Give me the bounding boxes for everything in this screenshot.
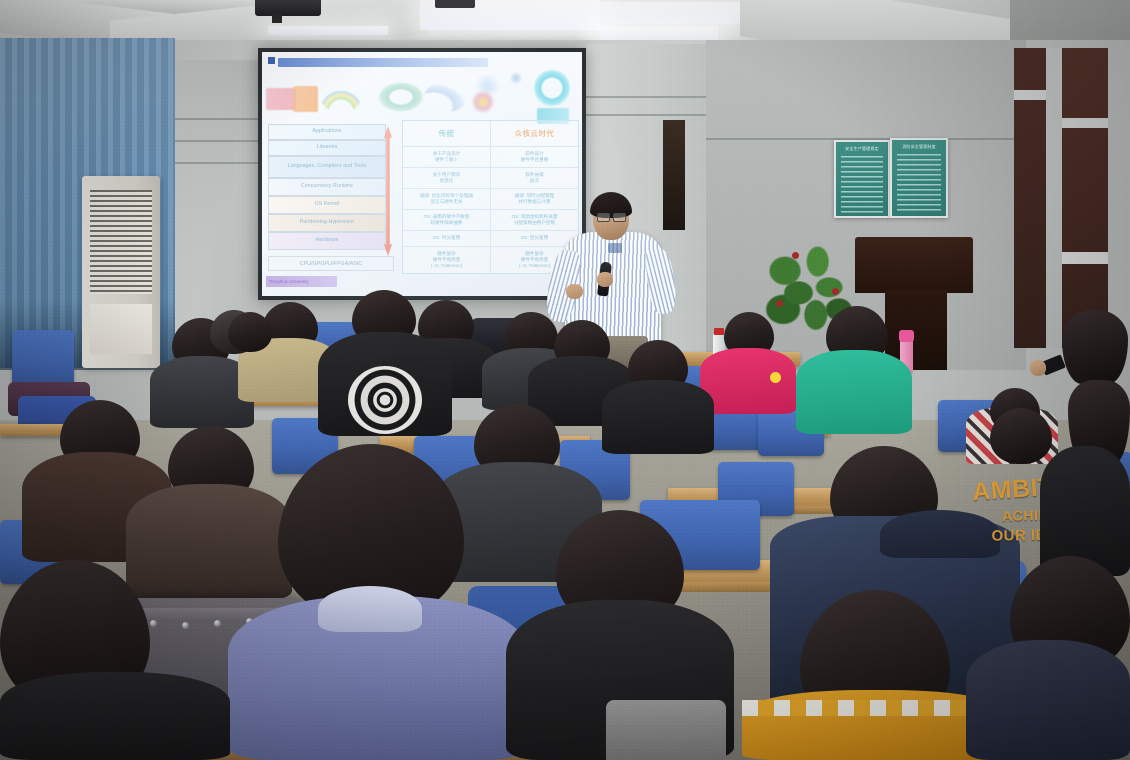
cell-line: 分配策略由用户控制 (514, 220, 555, 226)
notice-title: 消防安全管理制度 (892, 144, 946, 150)
wall-groove (586, 114, 706, 116)
plant-berry (832, 288, 839, 295)
notice-text-lines (841, 156, 883, 214)
audience-body-teal (796, 350, 912, 434)
ceiling-light-panel (600, 26, 718, 40)
cell-line: 并行数据与计算 (518, 199, 550, 205)
badge-icon (770, 372, 781, 383)
table-cell-left: 关于产品设计 硬件了解少 (403, 147, 491, 167)
door-trim (1014, 90, 1046, 100)
stack-layer-libraries: Libraries (268, 140, 386, 156)
air-conditioner (82, 176, 160, 368)
door-trim (1062, 118, 1108, 128)
speaker-right-hand (597, 272, 613, 287)
notice-title: 安全生产管理规定 (836, 146, 888, 152)
stack-layer-concurrency-runtime: Concurrency Runtime (268, 178, 386, 196)
table-cell-left: OS: 通用的硬件不敏感 软硬件隔离抽象 (403, 210, 491, 230)
slide-decoration-icon (468, 90, 498, 114)
ac-control-panel (90, 304, 152, 354)
slide-footer-label: Tsinghua University (266, 276, 337, 287)
foreground-shoulder (606, 700, 726, 760)
audience-body-pink (700, 348, 796, 414)
pink-bottle-cap (899, 330, 914, 342)
table-cell-right: OS: 空分复用 (491, 231, 578, 246)
cell-line: OS: 空分复用 (521, 235, 549, 241)
wall-dark-inset (663, 120, 685, 230)
table-row: OS: 时分复用 OS: 空分复用 (403, 231, 578, 247)
table-header-row: 传统 众核云时代 (403, 121, 578, 147)
cell-line: 软硬件隔离抽象 (430, 220, 462, 226)
glasses-lens (597, 213, 610, 222)
bottle-cap (714, 328, 724, 335)
slide-decoration-icon (424, 82, 468, 112)
plant-berry (792, 252, 799, 259)
table-cell-left: OS: 时分复用 (403, 231, 491, 246)
foreground-body (966, 640, 1130, 760)
slide-header-bar (278, 58, 488, 67)
slide-decoration-icon (509, 70, 523, 86)
projector-arm (272, 14, 282, 23)
notice-board-left: 安全生产管理规定 (834, 140, 890, 218)
audience-body (1040, 446, 1130, 576)
wall-door-frame (1046, 48, 1062, 348)
table-row: 关于用户需求 易变化 软件层级 层次 (403, 168, 578, 189)
table-cell-right: OS: 资源虚拟机构关键 分配策略由用户控制 (491, 210, 578, 230)
stack-layer-hardware: Hardware (268, 232, 386, 250)
wall-groove (586, 96, 706, 98)
comparison-table: 传统 众核云时代 关于产品设计 硬件了解少 软件设计 硬件平台重要 关于用户需求… (402, 120, 579, 274)
ac-grille (90, 190, 152, 294)
audience-head (228, 312, 272, 352)
table-row: OS: 通用的硬件不敏感 软硬件隔离抽象 OS: 资源虚拟机构关键 分配策略由用… (403, 210, 578, 231)
plant-berry (776, 300, 783, 307)
audience-head (990, 408, 1052, 464)
stack-layer-partitioning-hypervisor: Partitioning Hypervisor (268, 214, 386, 232)
lecture-hall-photo: 安全生产管理规定 消防安全管理制度 Applications Libraries… (0, 0, 1130, 760)
ceiling-light-panel (600, 2, 740, 24)
chair-stud (214, 620, 221, 627)
audience-head-long-hair (1062, 310, 1128, 384)
door-trim (1062, 252, 1108, 264)
table-cell-right: 软件层级 层次 (491, 168, 578, 188)
cell-line: 层次 (530, 178, 539, 184)
slide-decoration-icon (266, 88, 296, 110)
cell-line: 硬件了解少 (435, 157, 458, 163)
foreground-body (0, 672, 230, 760)
presentation-slide: Applications Libraries Languages, Compil… (262, 52, 582, 296)
speaker-left-hand (566, 284, 583, 299)
cell-line: 硬件平台重要 (521, 157, 549, 163)
citation-text: (--D. Patterson) (431, 263, 463, 269)
chair-stud (150, 620, 157, 627)
collar (318, 586, 422, 632)
slide-cloud-icon (375, 80, 427, 114)
ceiling-speaker (435, 0, 475, 8)
slide-decoration-icon (293, 86, 318, 112)
stack-layer-os-kernel: OS Kernel (268, 196, 386, 214)
podium-top (855, 237, 973, 293)
cell-line: 易变化 (440, 178, 454, 184)
chair-stud (182, 622, 189, 629)
table-cell-right: 软件设计 硬件平台重要 (491, 147, 578, 167)
ceiling-light-strip (268, 26, 388, 35)
stack-layer-applications: Applications (268, 124, 386, 140)
wall-door-panel-2 (1062, 48, 1108, 348)
table-cell-left: 关于用户需求 易变化 (403, 168, 491, 188)
table-cell-left: 硬件复杂 硬件不易改变 (--D. Patterson) (403, 247, 491, 273)
glasses-icon (597, 213, 626, 220)
notice-text-lines (897, 154, 941, 214)
stack-layer-languages: Languages, Compilers and Tools (268, 156, 386, 178)
shirt-pocket-logo (608, 243, 622, 253)
jacket-emblem-icon (348, 366, 422, 434)
slide-header-dot (268, 57, 275, 64)
table-cell-right: 编译: 同时分配管理 并行数据与计算 (491, 189, 578, 209)
table-header-traditional: 传统 (403, 121, 491, 146)
slide-ring-icon (530, 66, 574, 110)
table-header-manycore-cloud: 众核云时代 (491, 121, 578, 146)
audience-body (602, 380, 714, 454)
cell-line: 语言与硬件无关 (430, 199, 462, 205)
table-row: 编译: 优化目标单个处理器 语言与硬件无关 编译: 同时分配管理 并行数据与计算 (403, 189, 578, 210)
cell-line: OS: 时分复用 (433, 235, 461, 241)
notice-board-right: 消防安全管理制度 (890, 138, 948, 218)
table-cell-left: 编译: 优化目标单个处理器 语言与硬件无关 (403, 189, 491, 209)
table-row: 关于产品设计 硬件了解少 软件设计 硬件平台重要 (403, 147, 578, 168)
citation-text: (--D. Patterson) (519, 263, 551, 269)
audience-body (126, 484, 292, 600)
projector-mount (255, 0, 321, 16)
slide-decoration-icon (322, 90, 360, 112)
glasses-lens (613, 213, 626, 222)
hand (1030, 360, 1046, 376)
software-stack-diagram: Applications Libraries Languages, Compil… (268, 124, 386, 250)
stack-hardware-detail: CPU/GPGPU/FPGA/ASIC (268, 256, 394, 271)
